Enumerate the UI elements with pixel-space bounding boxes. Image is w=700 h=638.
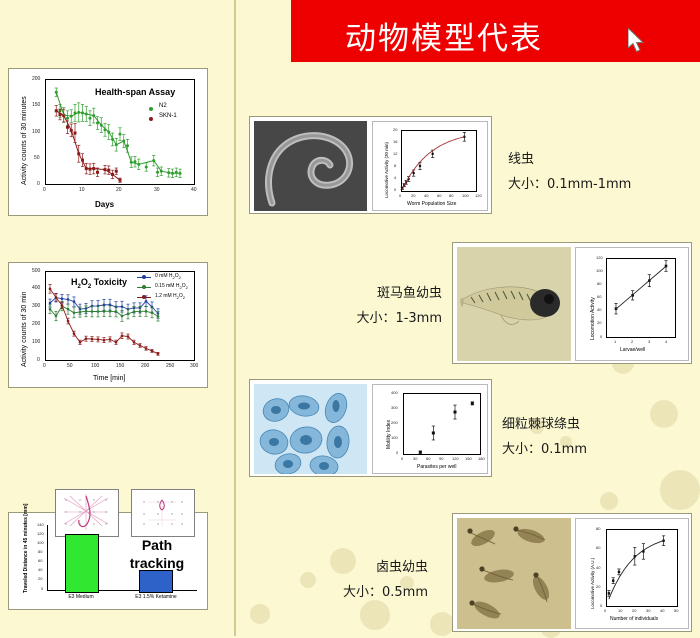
path-tracking-line2: tracking bbox=[130, 555, 184, 571]
specimen-card-echinococcus: Motility Index Parasites per well 400 30… bbox=[249, 379, 492, 477]
page-title: 动物模型代表 bbox=[345, 13, 543, 58]
path-tracking-caption: Path tracking bbox=[117, 537, 197, 572]
specimen-size: 大小：0.1mm bbox=[502, 438, 587, 457]
ytick: 40 bbox=[38, 567, 42, 572]
specimen-label-artemia: 卤虫幼虫 大小：0.5mm bbox=[318, 556, 428, 600]
specimen-name: 线虫 bbox=[508, 148, 631, 167]
ytick: 80 bbox=[38, 549, 42, 554]
chart-individuals: Locomotive Activity (A.U.) Number of ind… bbox=[575, 518, 689, 629]
chart-plot-individuals bbox=[576, 519, 690, 630]
specimen-size: 大小：0.1mm-1mm bbox=[508, 173, 631, 192]
chart-plot-worm bbox=[373, 122, 489, 212]
chart-card-healthspan: Health-span Assay Activity counts of 30 … bbox=[8, 68, 208, 216]
chart-plot-parasites bbox=[373, 385, 489, 475]
specimen-name: 细粒棘球绦虫 bbox=[502, 413, 587, 432]
chart-card-h2o2: H2O2 Toxicity Activity counts of 30 min … bbox=[8, 262, 208, 388]
photo-zebrafish bbox=[457, 247, 571, 361]
bar-e3-ketamine bbox=[139, 570, 173, 593]
bar-label-e3-ketamine: E3 1.5% Ketamine bbox=[127, 594, 185, 600]
path-tracking-line1: Path bbox=[142, 537, 172, 553]
mouse-pointer-icon bbox=[628, 28, 646, 54]
specimen-card-zebrafish: Locomotion Activity Larvae/well 120 100 … bbox=[452, 242, 692, 364]
ytick: 140 bbox=[37, 522, 44, 527]
ytick: 100 bbox=[37, 540, 44, 545]
specimen-size: 大小：0.5mm bbox=[318, 581, 428, 600]
ytick: 120 bbox=[37, 531, 44, 536]
chart-larvae-well: Locomotion Activity Larvae/well 120 100 … bbox=[575, 247, 689, 361]
specimen-label-echinococcus: 细粒棘球绦虫 大小：0.1mm bbox=[502, 413, 587, 457]
specimen-card-c-elegans: Locomotive Activity (30 min) Worm Popula… bbox=[249, 116, 492, 214]
chart-plot-healthspan bbox=[9, 69, 207, 215]
chart-ylabel-path: Traveled Distance in 45 minutes [mm] bbox=[23, 504, 29, 593]
ytick: 0 bbox=[41, 586, 43, 591]
chart-worm-population: Locomotive Activity (30 min) Worm Popula… bbox=[372, 121, 488, 211]
specimen-label-zebrafish: 斑马鱼幼虫 大小：1-3mm bbox=[332, 282, 442, 326]
chart-plot-h2o2 bbox=[9, 263, 207, 387]
chart-plot-larvae bbox=[576, 248, 690, 362]
bar-e3-medium bbox=[65, 534, 99, 593]
ytick: 20 bbox=[38, 576, 42, 581]
bar-label-e3-medium: E3 Medium bbox=[61, 594, 101, 600]
specimen-card-artemia: Locomotive Activity (A.U.) Number of ind… bbox=[452, 513, 692, 632]
specimen-name: 斑马鱼幼虫 bbox=[332, 282, 442, 301]
chart-parasites-well: Motility Index Parasites per well 400 30… bbox=[372, 384, 488, 474]
specimen-label-c-elegans: 线虫 大小：0.1mm-1mm bbox=[508, 148, 631, 192]
specimen-name: 卤虫幼虫 bbox=[318, 556, 428, 575]
photo-artemia bbox=[457, 518, 571, 629]
specimen-size: 大小：1-3mm bbox=[332, 307, 442, 326]
photo-echinococcus bbox=[254, 384, 367, 474]
chart-card-path-tracking: Traveled Distance in 45 minutes [mm] 140… bbox=[8, 512, 208, 610]
ytick: 60 bbox=[38, 558, 42, 563]
photo-c-elegans bbox=[254, 121, 367, 211]
